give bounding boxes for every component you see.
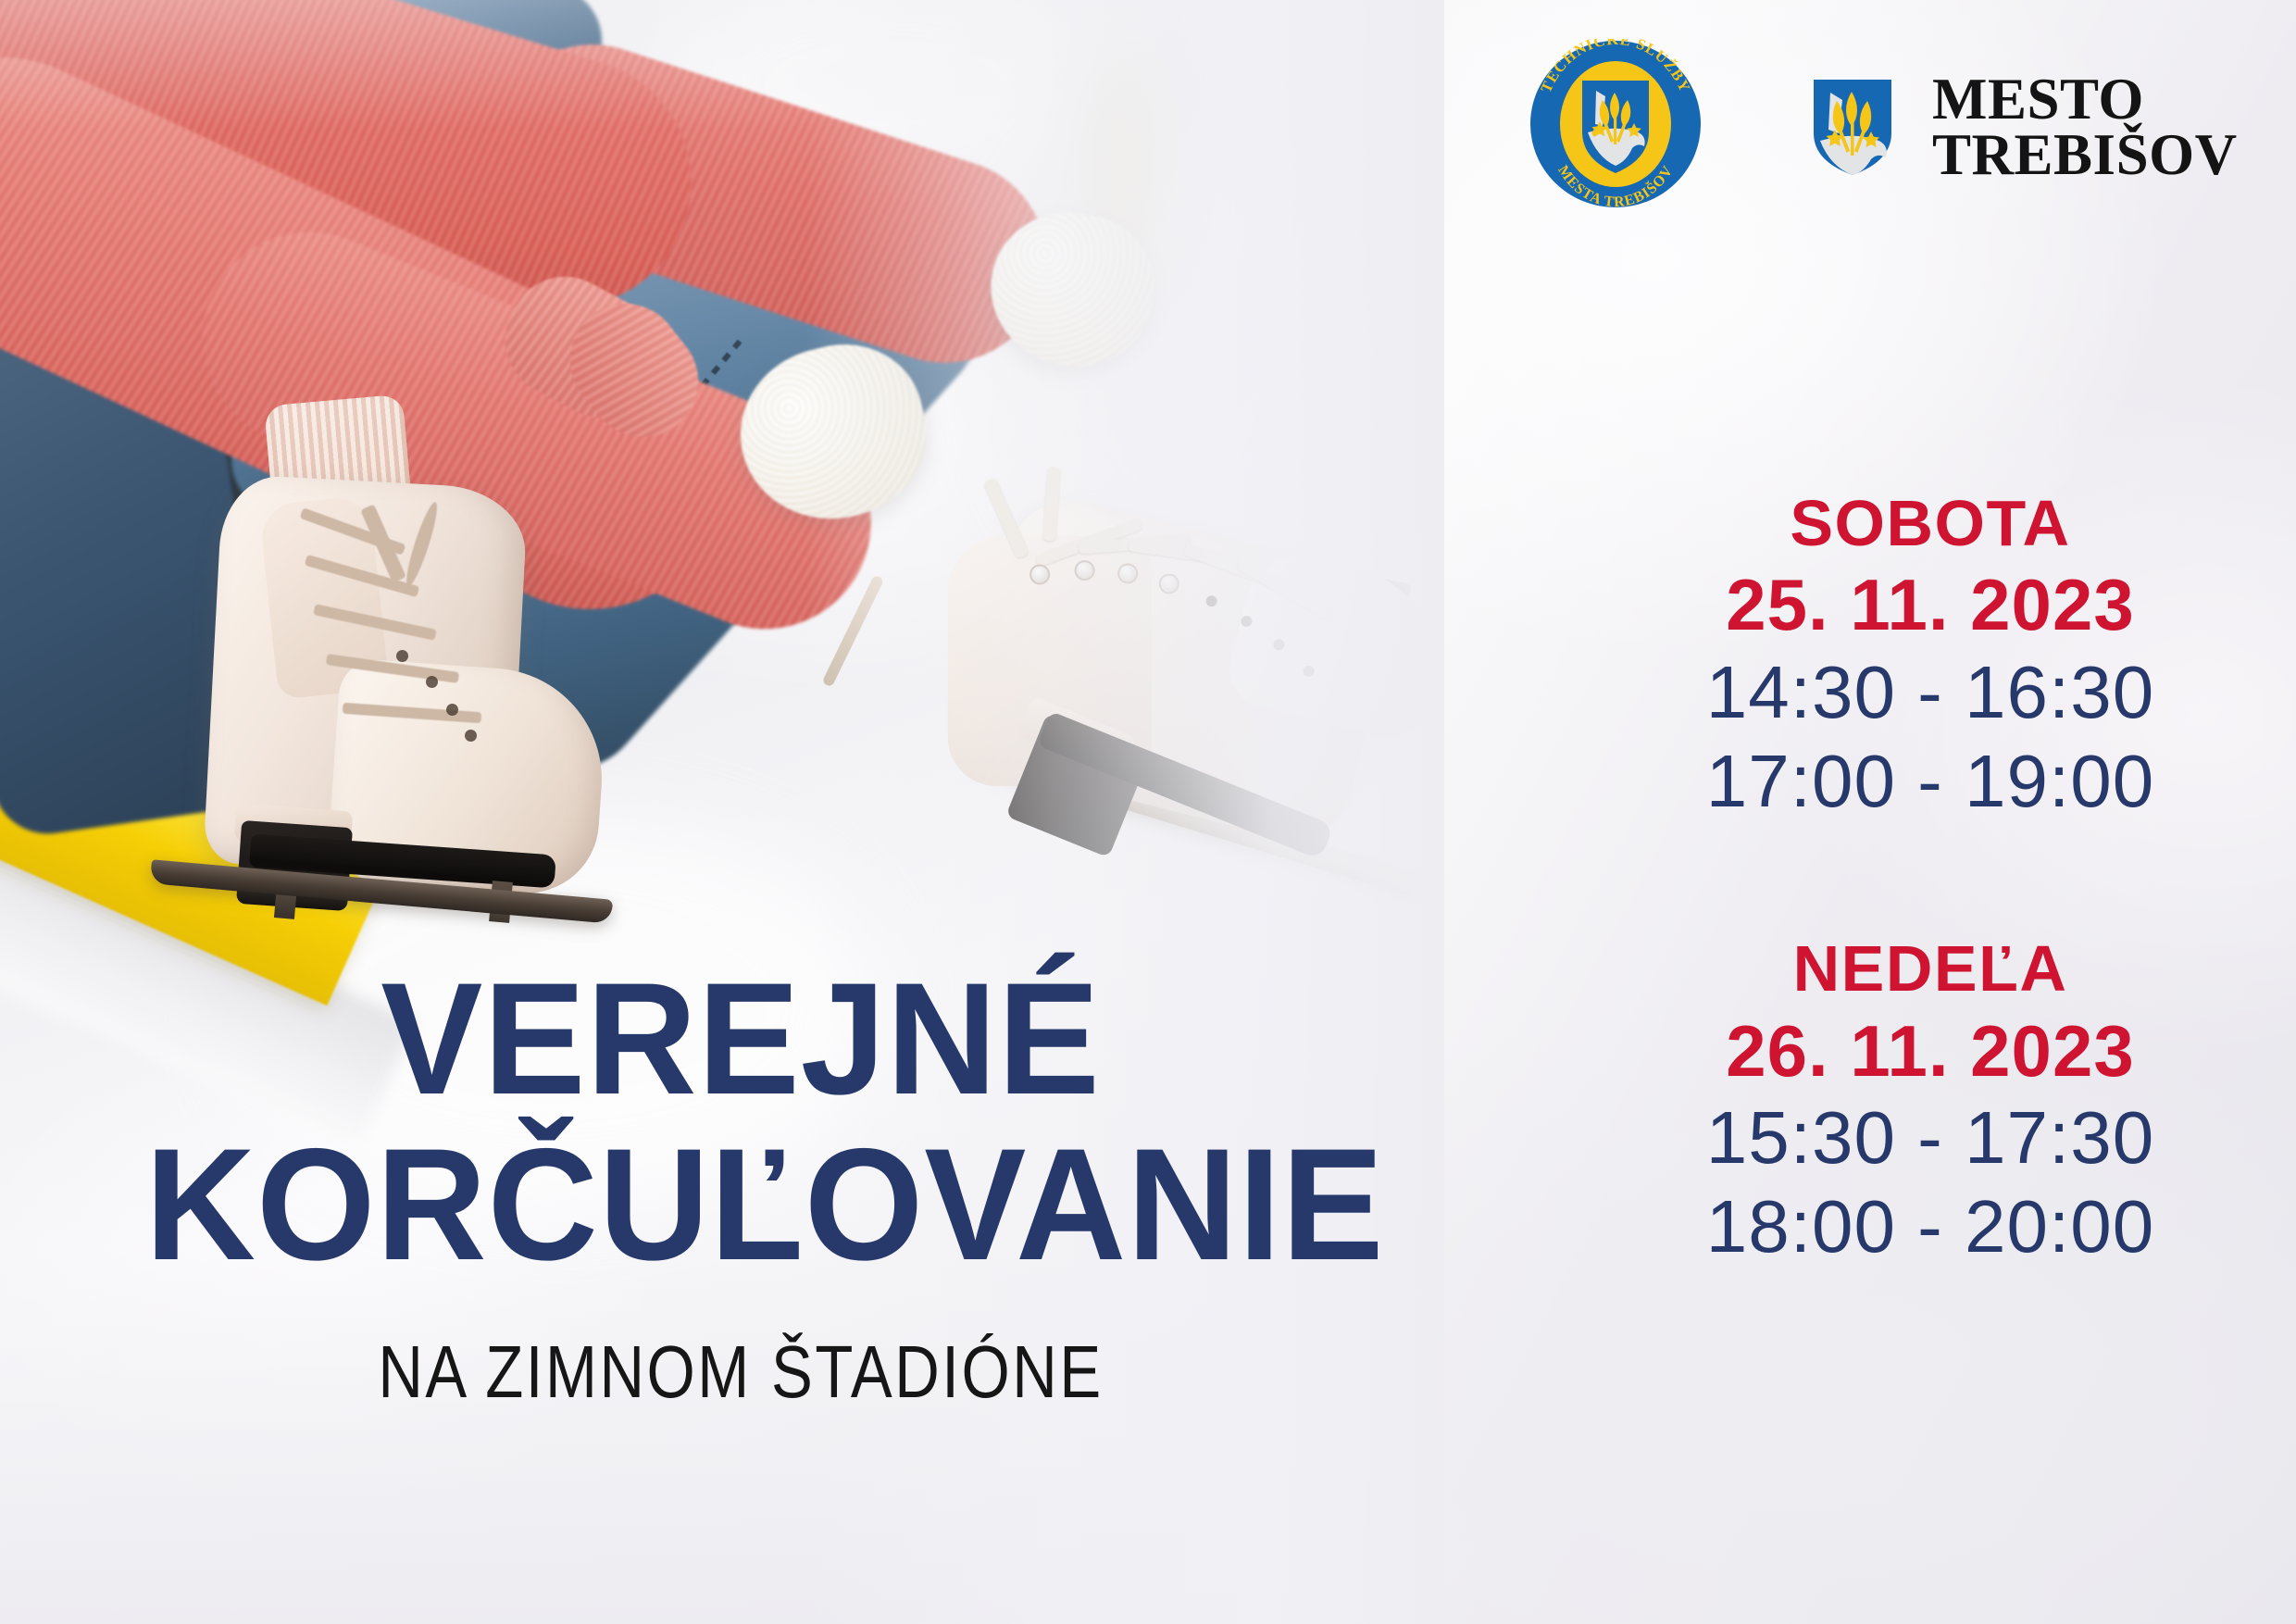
schedule-date-label: 25. 11. 2023: [1606, 563, 2254, 646]
headline-line-1: VEREJNÉ: [145, 963, 1336, 1116]
schedule-time-slot: 14:30 - 16:30: [1606, 649, 2254, 736]
headline-line-2: KORČUĽOVANIE: [145, 1129, 1336, 1281]
schedule-block-sunday: NEDEĽA 26. 11. 2023 15:30 - 17:30 18:00 …: [1606, 934, 2254, 1270]
schedule-panel: SOBOTA 25. 11. 2023 14:30 - 16:30 17:00 …: [1606, 489, 2254, 1271]
technicke-sluzby-emblem-icon: TECHNICKÉ SLUŽBY MESTA TREBIŠOV: [1523, 39, 1708, 210]
schedule-block-saturday: SOBOTA 25. 11. 2023 14:30 - 16:30 17:00 …: [1606, 489, 2254, 825]
mesto-trebisov-logo: MESTO TREBIŠOV: [1810, 71, 2238, 183]
trebisov-coat-of-arms-icon: [1810, 76, 1895, 178]
mesto-trebisov-wordmark: MESTO TREBIŠOV: [1932, 71, 2238, 183]
schedule-time-slot: 17:00 - 19:00: [1606, 738, 2254, 825]
technicke-sluzby-logo: TECHNICKÉ SLUŽBY MESTA TREBIŠOV: [1523, 39, 1708, 215]
schedule-time-slot: 15:30 - 17:30: [1606, 1094, 2254, 1181]
headline-subtitle: NA ZIMNOM ŠTADIÓNE: [219, 1330, 1262, 1415]
headline-block: VEREJNÉ KORČUĽOVANIE NA ZIMNOM ŠTADIÓNE: [120, 963, 1361, 1415]
wordmark-line-2: TREBIŠOV: [1932, 127, 2238, 182]
schedule-time-slot: 18:00 - 20:00: [1606, 1183, 2254, 1270]
schedule-day-label: SOBOTA: [1606, 489, 2254, 557]
wordmark-line-1: MESTO: [1932, 71, 2238, 127]
poster-canvas: TECHNICKÉ SLUŽBY MESTA TREBIŠOV: [0, 0, 2296, 1624]
ice-skate-left: [194, 481, 593, 1000]
schedule-date-label: 26. 11. 2023: [1606, 1009, 2254, 1093]
schedule-day-label: NEDEĽA: [1606, 934, 2254, 1003]
logo-row: TECHNICKÉ SLUŽBY MESTA TREBIŠOV: [1523, 39, 2238, 215]
schedule-spacer: [1606, 825, 2254, 934]
